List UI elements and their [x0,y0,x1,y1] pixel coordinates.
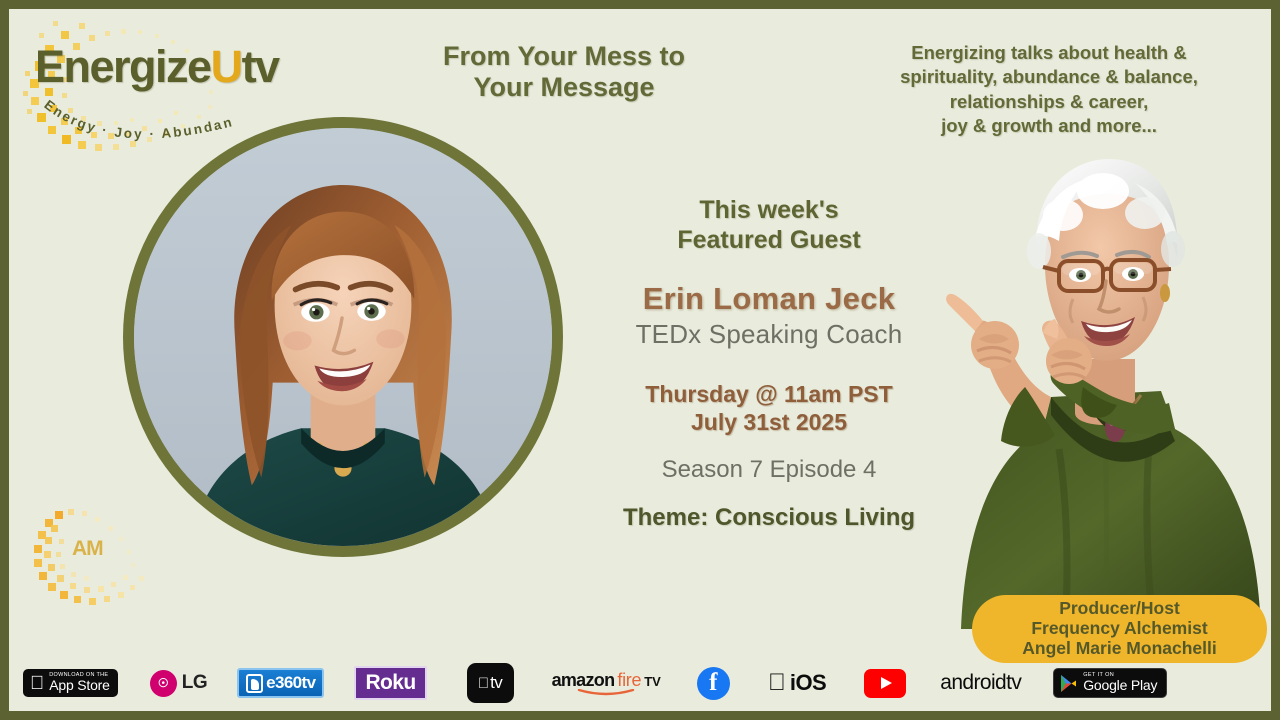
logo-arc-text: Energy · Joy · Abundance [31,95,246,155]
youtube-icon[interactable] [864,669,906,698]
logo-wordmark: EnergizeUtv [35,41,279,93]
facebook-icon[interactable]: f [697,667,730,700]
roku-label[interactable]: Roku [354,666,426,700]
show-tagline: Energizing talks about health & spiritua… [839,41,1259,139]
lg-label: LG [182,672,207,694]
featured-line-1: This week's [569,195,969,225]
host-badge: Producer/Host Frequency Alchemist Angel … [972,595,1267,663]
season-episode: Season 7 Episode 4 [569,456,969,484]
apple-tv-label: tv [490,673,502,693]
google-play-icon [1060,674,1077,693]
airdate: July 31st 2025 [569,408,969,436]
apple-icon:  [768,671,786,695]
android-label: android [940,671,1006,694]
lg-icon: ☉ [150,670,177,697]
host-photo-image [939,129,1271,629]
amazon-label: amazon [552,670,615,691]
platform-facebook[interactable]: f [697,667,730,700]
svg-text:Energy · Joy · Abundance: Energy · Joy · Abundance [31,95,235,142]
platform-google-play[interactable]: GET IT ON Google Play [1053,668,1167,698]
app-store-badge[interactable]:  Download on the App Store [23,669,118,697]
guest-portrait-image [134,128,552,546]
host-photo [939,129,1271,629]
airtime-block: Thursday @ 11am PST July 31st 2025 [569,380,969,436]
amazon-smile-icon [577,689,635,696]
fire-label: fire [617,670,641,691]
google-play-badge[interactable]: GET IT ON Google Play [1053,668,1167,698]
featured-line-2: Featured Guest [569,225,969,255]
poster-canvas: EnergizeUtv Energy · Joy · Abundance [9,9,1271,711]
app-store-label: App Store [49,678,109,693]
platform-roku[interactable]: Roku [354,666,426,700]
tagline-line-3: relationships & career, [839,90,1259,114]
episode-theme: Theme: Conscious Living [569,504,969,532]
host-badge-line-2: Frequency Alchemist [1031,619,1207,639]
platform-android-tv[interactable]: androidtv [940,671,1021,695]
apple-icon:  [30,674,44,693]
platform-app-store[interactable]:  Download on the App Store [23,669,118,697]
platform-e360tv[interactable]: e360tv [237,668,324,698]
apple-icon:  [478,676,489,691]
logo-arc-label: Energy · Joy · Abundance [31,95,235,142]
android-tv-suffix: tv [1006,671,1021,694]
tagline-line-1: Energizing talks about health & [839,41,1259,65]
logo-word-tv: tv [242,41,279,92]
featured-guest-heading: This week's Featured Guest [569,195,969,255]
logo-word-energize: Energize [35,41,211,92]
airtime: Thursday @ 11am PST [569,380,969,408]
platform-ios[interactable]:  iOS [768,670,826,696]
poster-frame: EnergizeUtv Energy · Joy · Abundance [0,0,1280,720]
guest-role: TEDx Speaking Coach [569,319,969,350]
show-title-line-2: Your Message [404,72,724,103]
ios-label: iOS [790,670,826,696]
logo-letter-u: U [211,41,242,92]
am-watermark-logo: AM [25,507,155,612]
tagline-line-2: spirituality, abundance & balance, [839,65,1259,89]
guest-name: Erin Loman Jeck [569,281,969,317]
platform-badge-strip:  Download on the App Store ☉ LG e360tv … [9,661,1271,705]
platform-fire-tv[interactable]: amazon fire TV [552,670,661,696]
page-title: From Your Mess to Your Message [404,41,724,104]
google-play-label: Google Play [1083,678,1157,693]
platform-lg[interactable]: ☉ LG [150,670,207,697]
host-badge-line-1: Producer/Host [1059,599,1180,619]
platform-youtube[interactable] [864,669,906,698]
fire-tv-suffix: TV [644,674,661,689]
guest-portrait [123,117,563,557]
episode-info: This week's Featured Guest Erin Loman Je… [569,195,969,532]
host-badge-line-3: Angel Marie Monachelli [1022,639,1216,659]
platform-apple-tv[interactable]:  tv [467,663,514,703]
e360tv-label: e360tv [266,673,315,693]
show-title-line-1: From Your Mess to [404,41,724,72]
am-monogram: AM [72,537,103,561]
e360tv-icon [246,674,263,693]
